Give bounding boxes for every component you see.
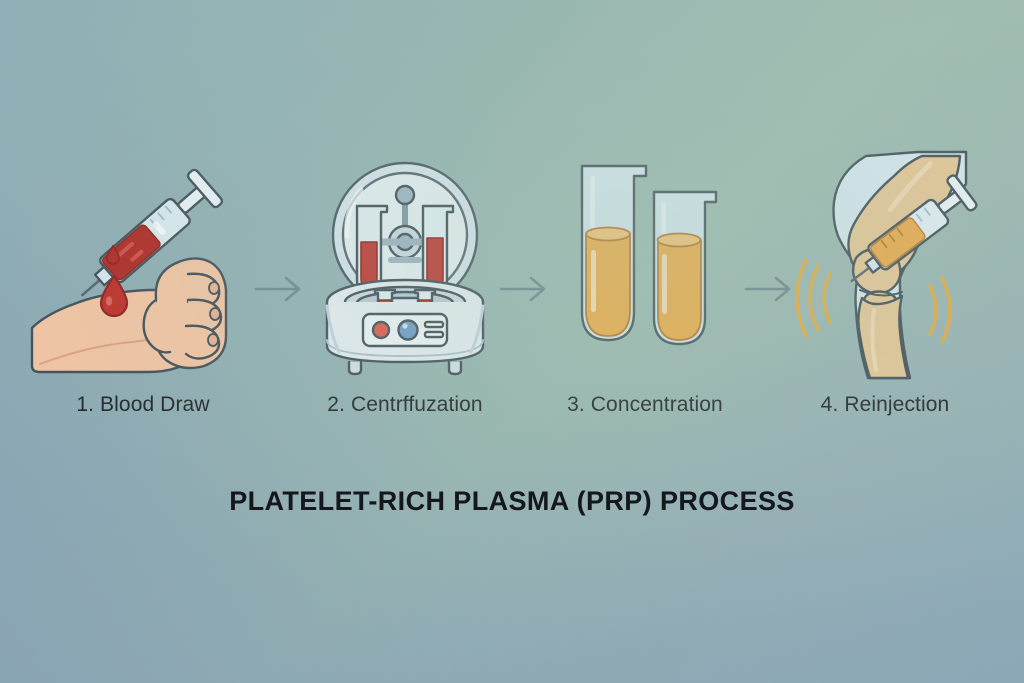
centrifuge-icon [305,150,505,380]
step-3-illustration [550,150,740,380]
step-1-label: 1. Blood Draw [28,390,258,420]
step-4-label: 4. Reinjection [775,390,995,420]
page-title: PLATELET-RICH PLASMA (PRP) PROCESS [0,486,1024,517]
prp-process-poster: 1. Blood Draw [0,0,1024,683]
step-2-illustration [305,150,505,380]
step-3-label: 3. Concentration [535,390,755,420]
arrow-step-1-to-2 [252,272,308,306]
step-1-illustration [28,150,258,380]
syringe-blood-draw-arm-icon [28,150,258,380]
knee-injection-icon [790,150,990,380]
arrow-step-2-to-3 [497,272,553,306]
step-2-label: 2. Centrffuzation [285,390,525,420]
plasma-test-tubes-icon [550,150,740,380]
step-4-illustration [790,150,990,380]
